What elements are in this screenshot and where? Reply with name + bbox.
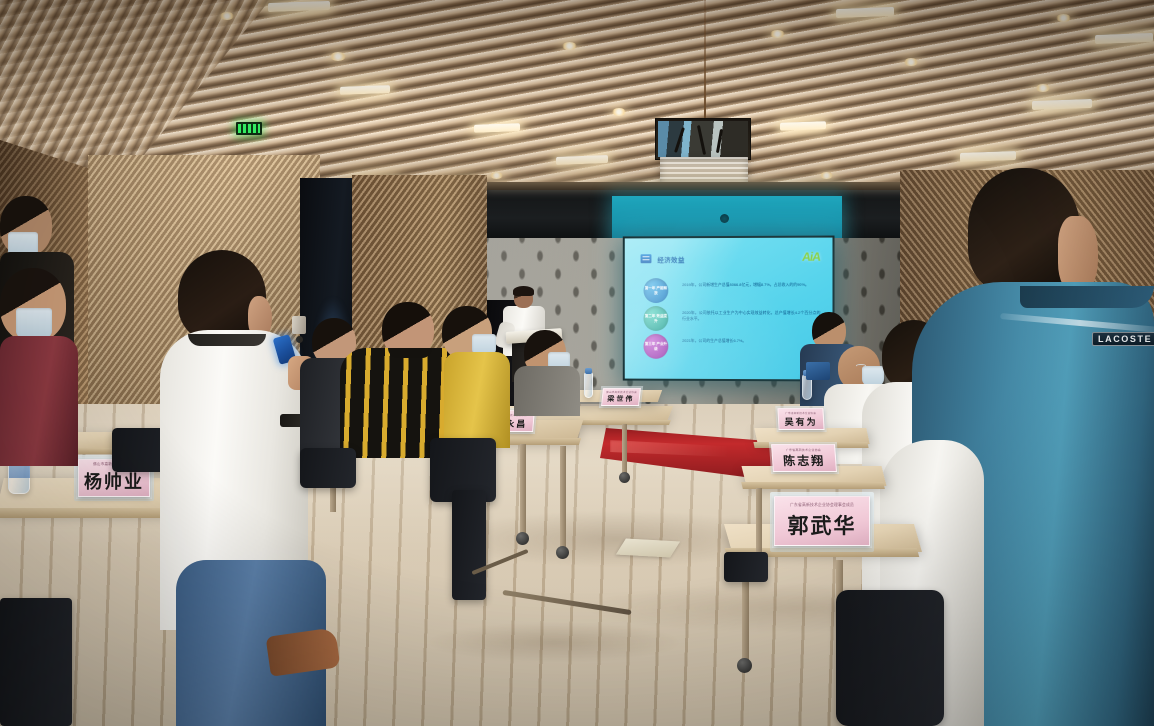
chair-seat-right[interactable] [836, 590, 944, 726]
bottle-cap [585, 368, 592, 374]
chair-backrest[interactable] [300, 448, 356, 488]
name-card-name: 郭武华 [788, 510, 857, 540]
wall-speaker [292, 316, 306, 334]
presenter-hair [513, 286, 534, 296]
desk-leg [622, 424, 627, 476]
slide-paragraph-3: 2021年，公司的生产总值增长6.7%。 [682, 338, 802, 344]
polo-collar [188, 334, 266, 346]
exit-sign-icon [236, 122, 262, 135]
back-wall-teal-panel [612, 196, 842, 240]
slide-logo: AiA [802, 250, 822, 264]
desk-caster [516, 532, 529, 545]
attendee-torso-yellow [444, 352, 510, 448]
name-card-name: 吴有为 [784, 415, 818, 428]
attendee-torso [514, 366, 580, 416]
name-card-chen: 广东省高新技术企业协会 陈志翔 [771, 444, 837, 472]
wall-camera-lens [296, 336, 303, 343]
desk-leg [560, 446, 566, 550]
desk-caster [556, 546, 569, 559]
face-mask [16, 308, 52, 338]
attendee-torso-maroon [0, 336, 78, 466]
slide-badge-3: 第三年 产业升级 [644, 334, 669, 359]
mask-ear-loop [856, 364, 866, 367]
name-card-name: 陈志翔 [783, 452, 826, 469]
projector-ceiling-recess [655, 118, 751, 160]
chair-stem [452, 490, 486, 600]
floor-paper[interactable] [616, 539, 680, 558]
desk-leg [756, 488, 762, 554]
name-card: 佛山市高新技术企业协会 梁世伟 [601, 388, 641, 406]
name-card-name: 梁世伟 [607, 394, 635, 404]
chair-backrest[interactable] [724, 552, 768, 582]
desk-edge [741, 482, 885, 489]
chair-seat-foreground[interactable] [0, 598, 72, 726]
slide-title-icon [641, 254, 652, 263]
slide-paragraph-1: 2019年，公司新增生产总值8066.8亿元，增幅8.7%，占总收入的约90%。 [682, 282, 816, 288]
conference-room-photo: 经济效益 AiA 第一年 产能释放 第二年 效益提升 第三年 产业升级 2019… [0, 0, 1154, 726]
slide-badge-2: 第二年 效益提升 [644, 306, 669, 331]
desk-leg [520, 444, 526, 536]
slide-badge-1: 第一年 产能释放 [644, 278, 669, 303]
desk-caster [737, 658, 752, 673]
lacoste-brand-badge: LACOSTE [1092, 332, 1154, 346]
back-wall-light-cove [487, 182, 907, 190]
face-mask [862, 366, 884, 386]
slide-paragraph-2: 2020年，公司依托以工业生产为中心实现效益转化，总产值增长4.2个百分点的行业… [682, 310, 820, 322]
name-card-guo: 广东省高新技术企业协会理事会成员 郭武华 [774, 496, 870, 546]
polo-collar [388, 348, 432, 358]
slide-title: 经济效益 [657, 254, 684, 264]
projector-suspension-cable [704, 0, 706, 118]
polo-collar [1020, 286, 1154, 308]
water-bottle[interactable] [584, 372, 593, 398]
name-card-wu: 广东省高新技术企业协会 吴有为 [777, 408, 824, 430]
laptop-screen[interactable] [806, 362, 830, 380]
name-card-org: 广东省高新技术企业协会理事会成员 [790, 503, 854, 508]
desk-caster [619, 472, 630, 483]
